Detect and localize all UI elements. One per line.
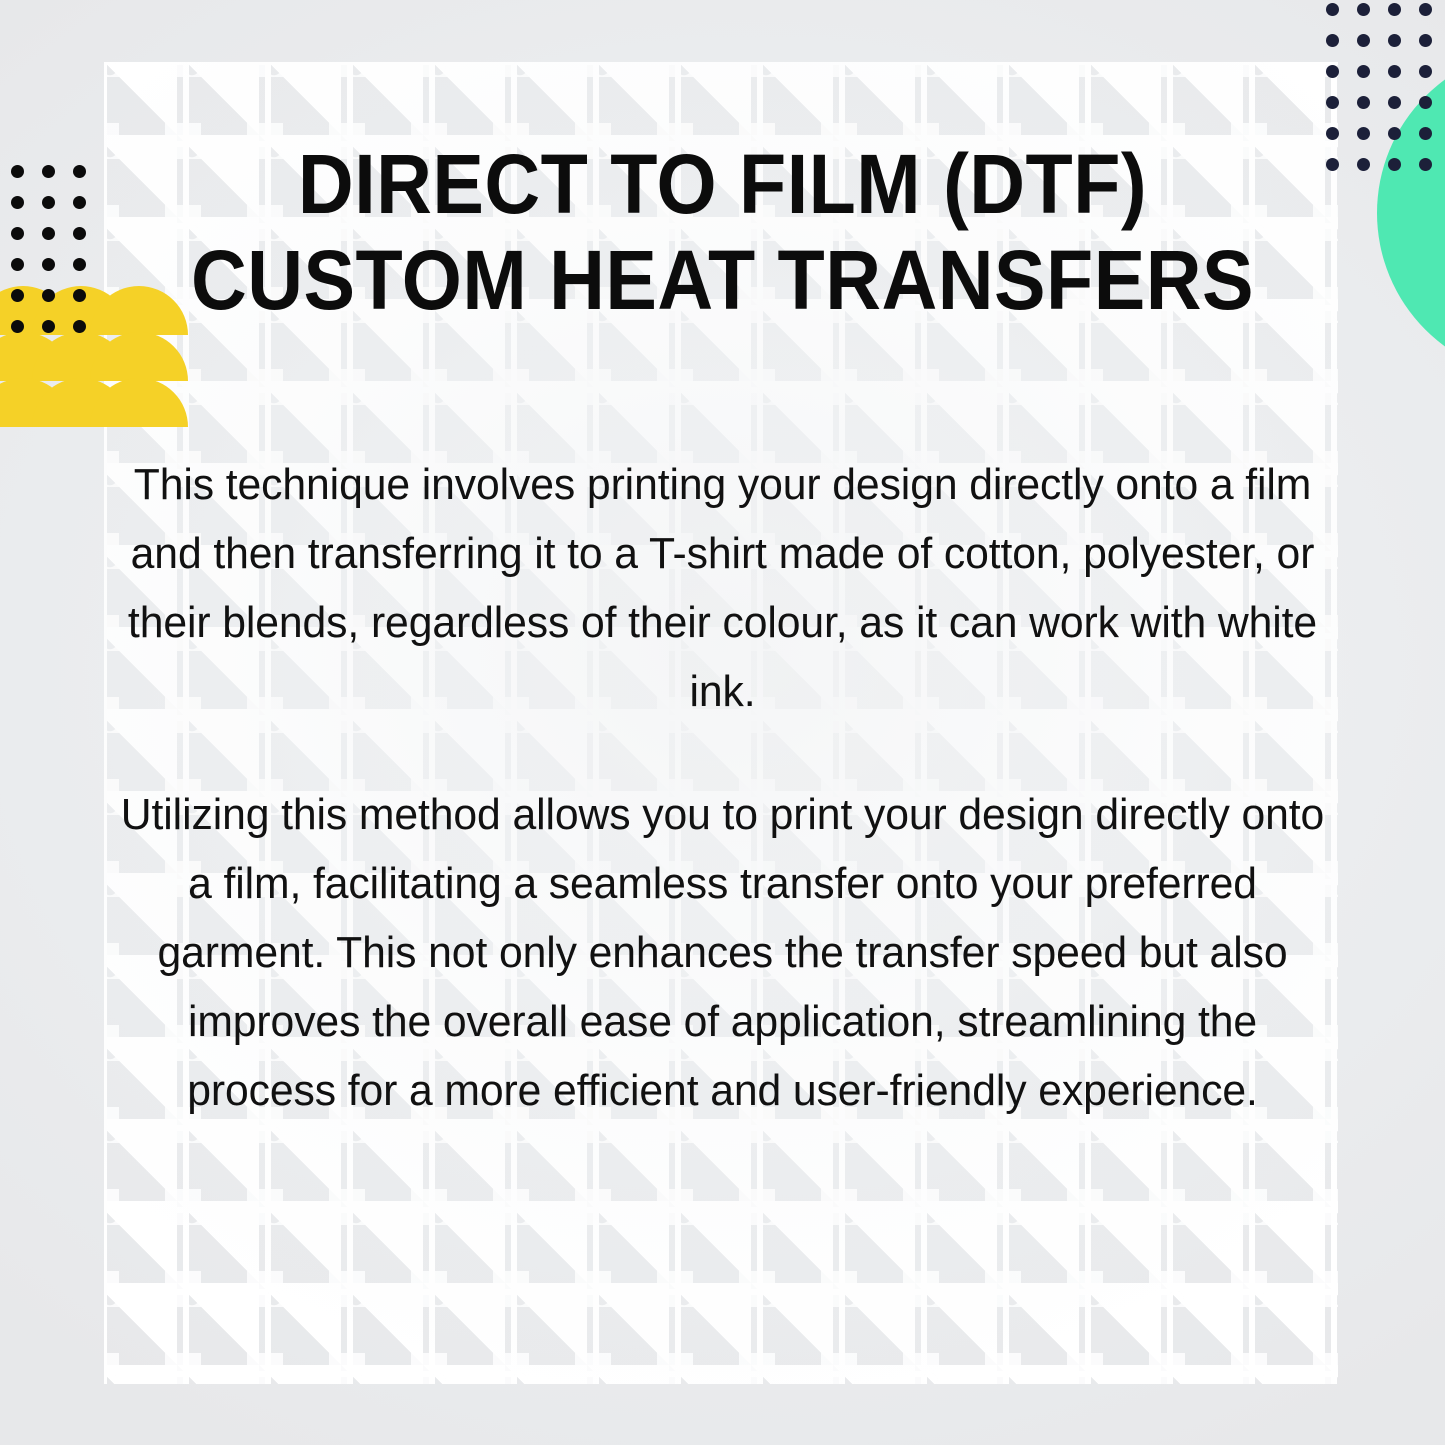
- left-grid-dot: [42, 196, 55, 209]
- top-right-grid-dot: [1357, 65, 1370, 78]
- top-right-grid-dot: [1357, 127, 1370, 140]
- body-paragraph-2: Utilizing this method allows you to prin…: [115, 780, 1330, 1125]
- top-right-grid-dot: [1357, 34, 1370, 47]
- left-grid-dot: [73, 227, 86, 240]
- left-grid-dot: [73, 196, 86, 209]
- top-right-grid-dot: [1419, 3, 1432, 16]
- left-grid-dot: [42, 320, 55, 333]
- top-right-grid-dot: [1326, 65, 1339, 78]
- left-grid-dot: [42, 258, 55, 271]
- top-right-grid-dot: [1357, 3, 1370, 16]
- top-right-grid-dot: [1419, 65, 1432, 78]
- top-right-grid-dot: [1388, 96, 1401, 109]
- top-right-grid-dot: [1388, 65, 1401, 78]
- left-grid-dot: [11, 165, 24, 178]
- body-copy: This technique involves printing your de…: [96, 450, 1349, 1125]
- left-grid-dot: [11, 227, 24, 240]
- content-layer: DIRECT TO FILM (DTF) CUSTOM HEAT TRANSFE…: [0, 0, 1445, 1445]
- left-grid-dot: [73, 289, 86, 302]
- left-grid-dot: [73, 165, 86, 178]
- top-right-grid-dot: [1388, 34, 1401, 47]
- top-right-grid-dot: [1419, 158, 1432, 171]
- left-grid-dot: [42, 165, 55, 178]
- top-right-grid-dot: [1326, 34, 1339, 47]
- top-right-grid-dot: [1419, 96, 1432, 109]
- left-grid-dot: [42, 289, 55, 302]
- body-paragraph-1: This technique involves printing your de…: [115, 450, 1330, 726]
- top-right-grid-dot: [1388, 3, 1401, 16]
- top-right-grid-dot: [1357, 158, 1370, 171]
- top-right-grid-dot: [1326, 3, 1339, 16]
- left-grid-dot: [11, 258, 24, 271]
- left-grid-dot: [11, 289, 24, 302]
- top-right-grid-dot: [1357, 96, 1370, 109]
- left-grid-dot: [11, 320, 24, 333]
- left-grid-dot: [42, 227, 55, 240]
- top-right-grid-dot: [1419, 34, 1432, 47]
- top-right-grid-dot: [1326, 127, 1339, 140]
- left-grid-dot: [11, 196, 24, 209]
- page-title-line-2: CUSTOM HEAT TRANSFERS: [150, 232, 1295, 328]
- top-right-grid-dot: [1388, 127, 1401, 140]
- page-title-line-1: DIRECT TO FILM (DTF): [150, 136, 1295, 232]
- top-right-grid-dot: [1388, 158, 1401, 171]
- left-grid-dot: [73, 258, 86, 271]
- page-title: DIRECT TO FILM (DTF) CUSTOM HEAT TRANSFE…: [150, 136, 1295, 328]
- top-right-grid-dot: [1419, 127, 1432, 140]
- top-right-grid-dot: [1326, 96, 1339, 109]
- poster-canvas: DIRECT TO FILM (DTF) CUSTOM HEAT TRANSFE…: [0, 0, 1445, 1445]
- left-grid-dot: [73, 320, 86, 333]
- top-right-grid-dot: [1326, 158, 1339, 171]
